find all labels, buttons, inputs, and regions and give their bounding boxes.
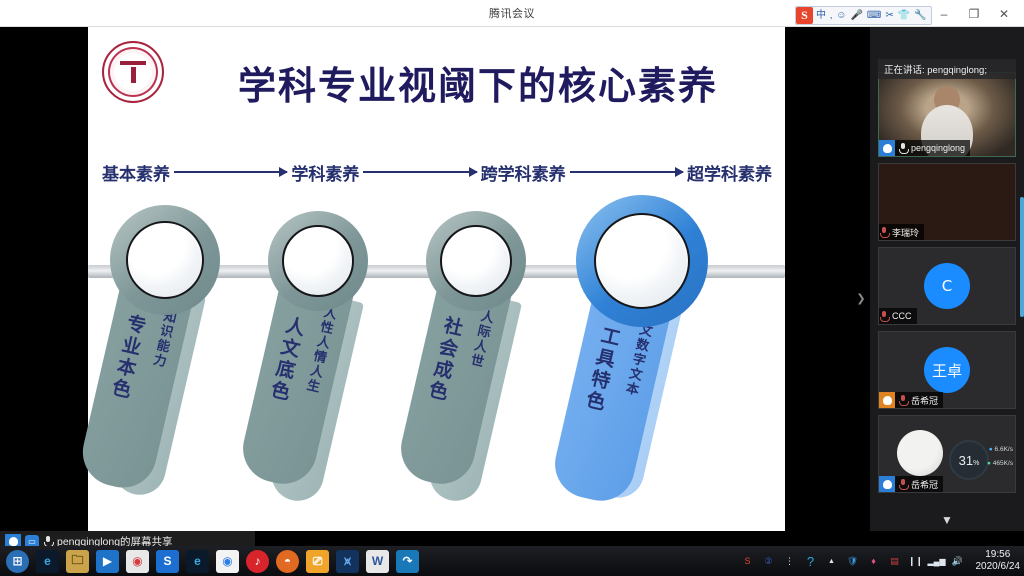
close-button[interactable]: ✕ [996,7,1012,21]
dots-tray-icon[interactable]: ⋮ [783,554,797,568]
upload-rate: ● 6.6K/s [989,446,1013,453]
google-chrome-icon[interactable]: ◉ [216,550,239,573]
name-tag: 李瑞玲 [879,224,924,240]
microphone-muted-icon [879,227,889,238]
chrome-colorful-icon[interactable]: ◉ [126,550,149,573]
firefox-like-icon[interactable]: ◓ [276,550,299,573]
ime-screenshot-icon[interactable]: ✂ [884,7,894,24]
participant-tile-stats[interactable]: 31 % ● 6.6K/s ● 465K/s 岳希冠 [878,415,1016,493]
system-tray: S ② ⋮ ? ▲ 🛡 ♦ ▤ ❙❙ ▂▄▆ 🔊 19:56 2020/6/24 [741,549,1021,573]
show-hidden-icons-icon[interactable]: ▲ [825,554,839,568]
host-person-glyph [883,480,892,489]
microphone-muted-icon [898,479,908,490]
ime-punctuation-icon[interactable]: ‚ [829,7,833,24]
chain-arrow-1 [174,171,287,173]
ime-skin-icon[interactable]: 👕 [897,7,911,24]
participant-tile-liruiling[interactable]: 李瑞玲 [878,163,1016,241]
cpu-usage-unit: % [973,460,979,467]
chain-label-3: 跨学科素养 [481,160,566,185]
app-tray-icon[interactable]: ② [762,554,776,568]
competency-progression-chain: 基本素养 学科素养 跨学科素养 超学科素养 [102,157,772,187]
participant-name: CCC [892,311,912,321]
window-titlebar: 腾讯会议 – ❐ ✕ S 中 ‚ ☺ 🎤 ⌨ ✂ 👕 🔧 [0,0,1024,27]
clock-date: 2020/6/24 [976,561,1021,573]
magnifier-3-glass [440,225,512,297]
volume-icon[interactable]: 🔊 [951,554,965,568]
chain-label-1: 基本素养 [102,160,170,185]
microphone-muted-icon [879,311,889,322]
download-rate: ● 465K/s [987,460,1013,467]
panel-scrollbar[interactable] [1020,197,1024,317]
chain-arrow-3 [570,171,683,173]
cpu-usage-value: 31 [959,453,973,468]
ime-keyboard-icon[interactable]: ⌨ [866,7,882,24]
host-person-glyph [883,396,892,405]
participant-name: 岳希冠 [911,394,938,407]
share-person-glyph [9,537,18,546]
university-seal-icon [102,41,164,103]
internet-explorer-2-icon[interactable]: e [186,550,209,573]
magnifier-3-lens [426,211,526,311]
magnifier-4-lens [576,195,708,327]
app-teal-arrow-icon[interactable]: ↷ [396,550,419,573]
name-tag: CCC [879,308,917,324]
cpu-usage-gauge: 31 % [949,440,989,480]
magnifier-1-lens [110,205,220,315]
name-tag: 岳希冠 [879,476,943,492]
windows-taskbar: ⊞ e 🗀 ▶ ◉ S e ◉ ♪ ◓ ⎚ ⩙ W ↷ S ② ⋮ ? ▲ 🛡 … [0,546,1024,576]
scroll-down-arrow-icon[interactable]: ▼ [870,513,1024,527]
presentation-slide: 学科专业视阈下的核心素养 基本素养 学科素养 跨学科素养 超学科素养 知识能力 … [88,27,785,531]
network-icon[interactable]: ▂▄▆ [930,554,944,568]
upload-value: 6.6 [995,446,1004,453]
name-tag: pengqinglong [879,140,970,156]
upload-unit: K/s [1004,446,1013,453]
name-tag: 岳希冠 [879,392,943,408]
video-placeholder-orb [897,430,943,476]
internet-explorer-icon[interactable]: e [36,550,59,573]
battery-icon[interactable]: ❙❙ [909,554,923,568]
speaking-indicator: 正在讲话: pengqinglong; [878,59,1016,79]
avatar: 王卓 [924,347,970,393]
host-badge-icon [879,476,895,492]
chain-label-4: 超学科素养 [687,160,772,185]
ime-voice-icon[interactable]: 🎤 [849,7,863,24]
window-controls: – ❐ ✕ [936,0,1020,27]
folder-red-icon[interactable]: ▤ [888,554,902,568]
clock-time: 19:56 [976,549,1021,561]
participant-name: pengqinglong [911,143,965,153]
maximize-button[interactable]: ❐ [966,7,982,21]
taskbar-app-icons: ⊞ e 🗀 ▶ ◉ S e ◉ ♪ ◓ ⎚ ⩙ W ↷ [0,550,419,573]
participant-name: 李瑞玲 [892,226,919,239]
participant-tile-ccc[interactable]: C CCC [878,247,1016,325]
clock[interactable]: 19:56 2020/6/24 [972,549,1021,573]
ime-emoji-icon[interactable]: ☺ [835,7,847,24]
participant-tile-pengqinglong[interactable]: pengqinglong [878,72,1016,157]
start-orb-icon[interactable]: ⊞ [6,550,29,573]
minimize-button[interactable]: – [936,7,952,21]
sogou-logo-icon[interactable]: S [796,7,813,24]
sogou-tray-icon[interactable]: S [741,554,755,568]
sogou-browser-icon[interactable]: S [156,550,179,573]
avatar: C [924,263,970,309]
window-title: 腾讯会议 [489,5,535,21]
chain-arrow-2 [363,171,476,173]
microphone-muted-icon [898,395,908,406]
security-shield-icon[interactable]: 🛡 [846,554,860,568]
sogou-ime-toolbar[interactable]: S 中 ‚ ☺ 🎤 ⌨ ✂ 👕 🔧 [795,6,932,25]
netease-music-icon[interactable]: ♪ [246,550,269,573]
antivirus-icon[interactable]: ♦ [867,554,881,568]
participant-name: 岳希冠 [911,478,938,491]
media-player-icon[interactable]: ▶ [96,550,119,573]
magnifier-2-glass [282,225,354,297]
microphone-icon [898,143,908,154]
microsoft-word-icon[interactable]: W [366,550,389,573]
host-badge-icon [879,392,895,408]
help-icon[interactable]: ? [804,554,818,568]
file-explorer-icon[interactable]: 🗀 [66,550,89,573]
app-yellow-icon[interactable]: ⎚ [306,550,329,573]
shared-screen-stage: 学科专业视阈下的核心素养 基本素养 学科素养 跨学科素养 超学科素养 知识能力 … [0,27,870,531]
screen-root: 腾讯会议 – ❐ ✕ S 中 ‚ ☺ 🎤 ⌨ ✂ 👕 🔧 学科专业视阈下的核心素… [0,0,1024,576]
host-badge-icon [879,140,895,156]
chain-label-2: 学科素养 [291,160,359,185]
download-value: 465 [993,460,1004,467]
magnifier-2-lens [268,211,368,311]
slide-title: 学科专业视阈下的核心素养 [188,55,768,110]
magnifier-4-glass [594,213,690,309]
participants-panel: ❯ 正在讲话: pengqinglong; pengqinglong 李瑞玲 [870,27,1024,531]
participant-tile-wangzhuo[interactable]: 王卓 岳希冠 [878,331,1016,409]
ime-settings-icon[interactable]: 🔧 [913,7,927,24]
host-person-glyph [883,144,892,153]
download-unit: K/s [1004,460,1013,467]
app-blue-mountain-icon[interactable]: ⩙ [336,550,359,573]
ime-mode-icon[interactable]: 中 [815,7,827,24]
panel-collapse-chevron-icon[interactable]: ❯ [854,285,868,311]
magnifier-1-glass [126,221,204,299]
